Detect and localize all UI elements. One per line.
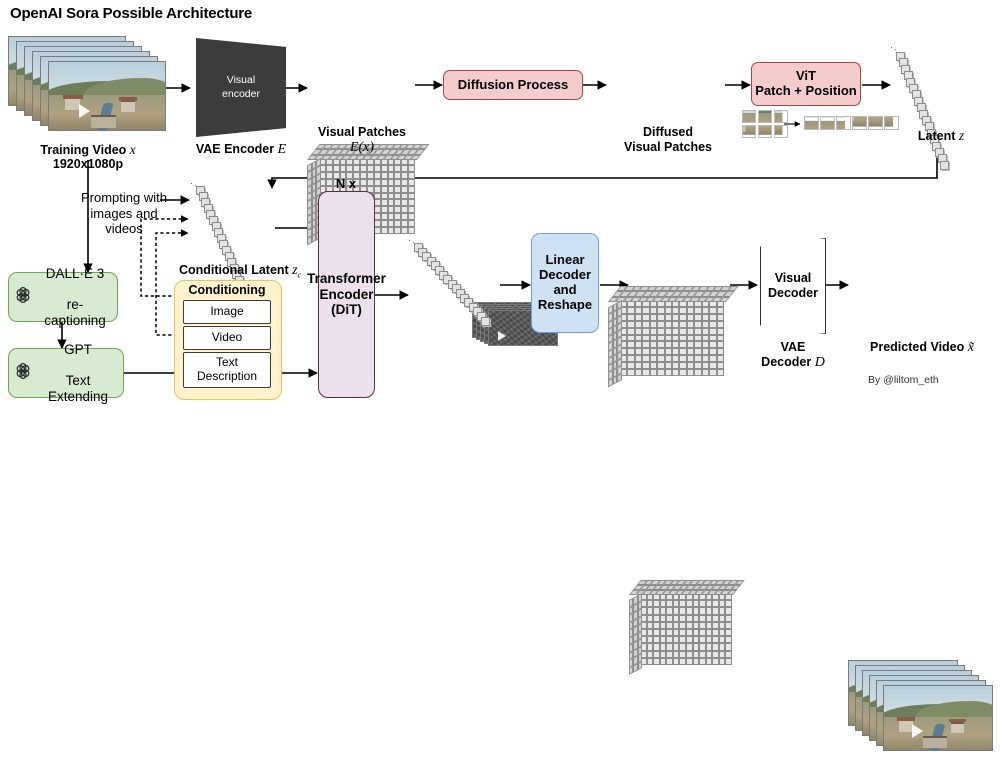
conditioning-image-label: Image xyxy=(210,305,243,319)
patch-sequence xyxy=(804,116,904,132)
conditioning-text-label-line2: Description xyxy=(197,370,257,384)
vae-encoder-caption: VAE Encoder E xyxy=(181,142,301,159)
visual-patches-caption: Visual Patches xyxy=(300,125,424,140)
play-icon xyxy=(912,724,923,738)
diffused-patches-cube xyxy=(608,286,726,380)
visual-decoder-shape: Visual Decoder xyxy=(760,238,826,334)
conditioning-video-label: Video xyxy=(212,331,242,345)
conditioning-text-label-line1: Text xyxy=(216,356,238,370)
predicted-video-stack xyxy=(848,660,996,764)
linear-decoder-box[interactable]: Linear Decoder and Reshape xyxy=(531,233,599,333)
conditioning-item-text-description[interactable]: Text Description xyxy=(183,352,271,388)
linear-decoder-line1: Linear xyxy=(545,253,584,268)
page-title: OpenAI Sora Possible Architecture xyxy=(10,5,252,22)
vit-label-line2: Patch + Position xyxy=(755,84,857,99)
vit-box[interactable]: ViT Patch + Position xyxy=(751,62,861,106)
dalle-label-line1: DALL·E 3 xyxy=(37,266,113,282)
training-video-label: Training Video xyxy=(40,143,126,157)
conditioning-item-image[interactable]: Image xyxy=(183,300,271,324)
vae-encoder-inner-label: Visual encoder xyxy=(222,74,260,100)
linear-decoder-line4: Reshape xyxy=(538,298,592,313)
visual-patches-math: E(x) xyxy=(300,140,424,157)
credit-label: By @liltom_eth xyxy=(868,374,939,386)
gpt-text-extending-box[interactable]: GPT Text Extending xyxy=(8,348,124,398)
play-icon xyxy=(498,331,506,341)
predicted-video-caption: Predicted Video x̃ xyxy=(846,340,998,357)
transformer-repeat-label: N x xyxy=(317,176,375,191)
diffusion-process-box[interactable]: Diffusion Process xyxy=(443,70,583,100)
latent-z-chain: ·. xyxy=(890,42,966,140)
training-video-resolution: 1920x1080p xyxy=(8,157,168,172)
transformer-encoder-box[interactable]: Transformer Encoder (DiT) xyxy=(318,191,375,398)
transformer-label-line3: (DiT) xyxy=(331,302,362,318)
conditioning-title: Conditioning xyxy=(174,283,280,298)
linear-decoder-line2: Decoder xyxy=(539,268,591,283)
patch-tile-grid xyxy=(742,110,788,140)
openai-logo-icon xyxy=(13,285,33,309)
transformer-label-line2: Encoder xyxy=(319,287,373,303)
diffusion-process-label: Diffusion Process xyxy=(458,78,569,93)
diffused-patches-caption-1: Diffused xyxy=(603,125,733,140)
conditional-latent-caption: Conditional Latent zc xyxy=(160,262,320,280)
play-icon xyxy=(79,104,90,118)
conditional-latent-chain: ·. xyxy=(190,178,280,270)
dalle-label-line2: re-captioning xyxy=(37,297,113,328)
vae-decoder-caption-1: VAE xyxy=(745,340,841,355)
dalle-recaptioning-box[interactable]: DALL·E 3 re-captioning xyxy=(8,272,118,322)
gpt-label-line1: GPT xyxy=(37,342,119,358)
conditioning-item-video[interactable]: Video xyxy=(183,326,271,350)
training-video-caption: Training Video x xyxy=(8,142,168,158)
vit-label-line1: ViT xyxy=(796,69,816,84)
latent-caption: Latent z xyxy=(898,128,984,144)
visual-decoder-inner-label: Visual Decoder xyxy=(768,271,818,301)
openai-logo-icon xyxy=(13,361,33,385)
vae-decoder-caption-2: Decoder D xyxy=(745,355,841,372)
transformer-label-line1: Transformer xyxy=(307,271,386,287)
reconstructed-patches-cube xyxy=(629,580,733,668)
vae-encoder-shape: Visual encoder xyxy=(196,38,286,137)
output-latent-chain: ·. xyxy=(408,235,504,327)
training-video-math: x xyxy=(130,142,136,157)
prompting-note: Prompting with images and videos xyxy=(78,190,170,237)
training-video-stack xyxy=(8,36,168,140)
linear-decoder-line3: and xyxy=(553,283,576,298)
diffused-patches-caption-2: Visual Patches xyxy=(603,140,733,155)
gpt-label-line2: Text Extending xyxy=(37,373,119,404)
